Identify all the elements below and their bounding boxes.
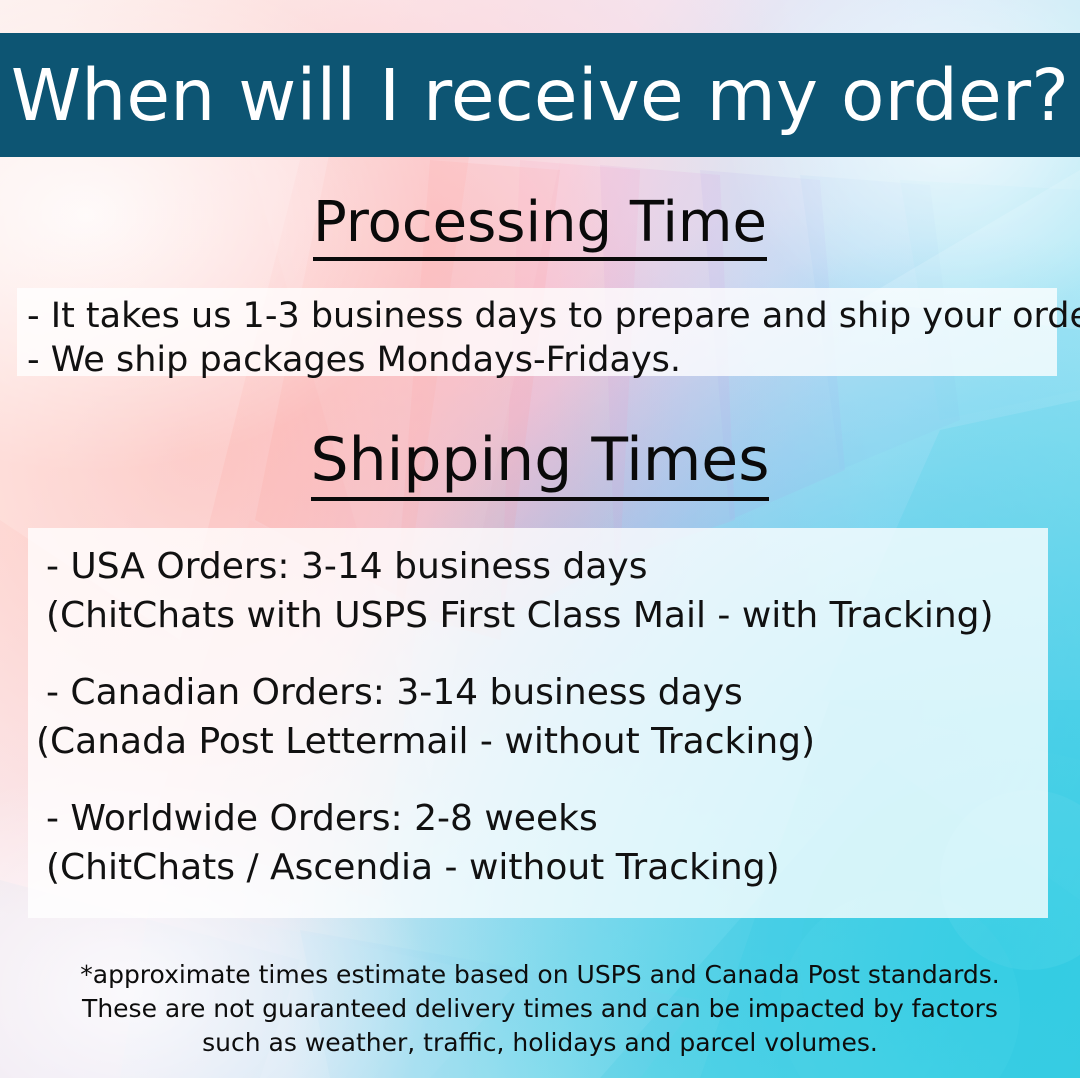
shipping-canada-detail: (Canada Post Lettermail - without Tracki… [36, 717, 1048, 766]
footnote-line-1: *approximate times estimate based on USP… [0, 958, 1080, 992]
section-heading-shipping-times: Shipping Times [0, 425, 1080, 501]
shipping-group-canada: - Canadian Orders: 3-14 business days (C… [36, 668, 1048, 766]
shipping-worldwide-detail: (ChitChats / Ascendia - without Tracking… [36, 843, 1048, 892]
page-title: When will I receive my order? [11, 60, 1069, 131]
header-banner: When will I receive my order? [0, 33, 1080, 157]
section-heading-processing-time-label: Processing Time [313, 190, 767, 261]
processing-time-panel: - It takes us 1-3 business days to prepa… [17, 288, 1057, 376]
section-heading-shipping-times-label: Shipping Times [311, 425, 770, 501]
processing-line-1: - It takes us 1-3 business days to prepa… [27, 294, 1057, 338]
shipping-times-panel: - USA Orders: 3-14 business days (ChitCh… [28, 528, 1048, 918]
shipping-group-worldwide: - Worldwide Orders: 2-8 weeks (ChitChats… [36, 794, 1048, 892]
footnote-line-3: such as weather, traffic, holidays and p… [0, 1026, 1080, 1060]
shipping-usa-title: - USA Orders: 3-14 business days [36, 542, 1048, 591]
shipping-usa-detail: (ChitChats with USPS First Class Mail - … [36, 591, 1048, 640]
section-heading-processing-time: Processing Time [0, 190, 1080, 261]
shipping-worldwide-title: - Worldwide Orders: 2-8 weeks [36, 794, 1048, 843]
shipping-group-usa: - USA Orders: 3-14 business days (ChitCh… [36, 542, 1048, 640]
infographic-canvas: When will I receive my order? Processing… [0, 0, 1080, 1078]
footnote-disclaimer: *approximate times estimate based on USP… [0, 958, 1080, 1060]
shipping-canada-title: - Canadian Orders: 3-14 business days [36, 668, 1048, 717]
footnote-line-2: These are not guaranteed delivery times … [0, 992, 1080, 1026]
processing-line-2: - We ship packages Mondays-Fridays. [27, 338, 1057, 382]
